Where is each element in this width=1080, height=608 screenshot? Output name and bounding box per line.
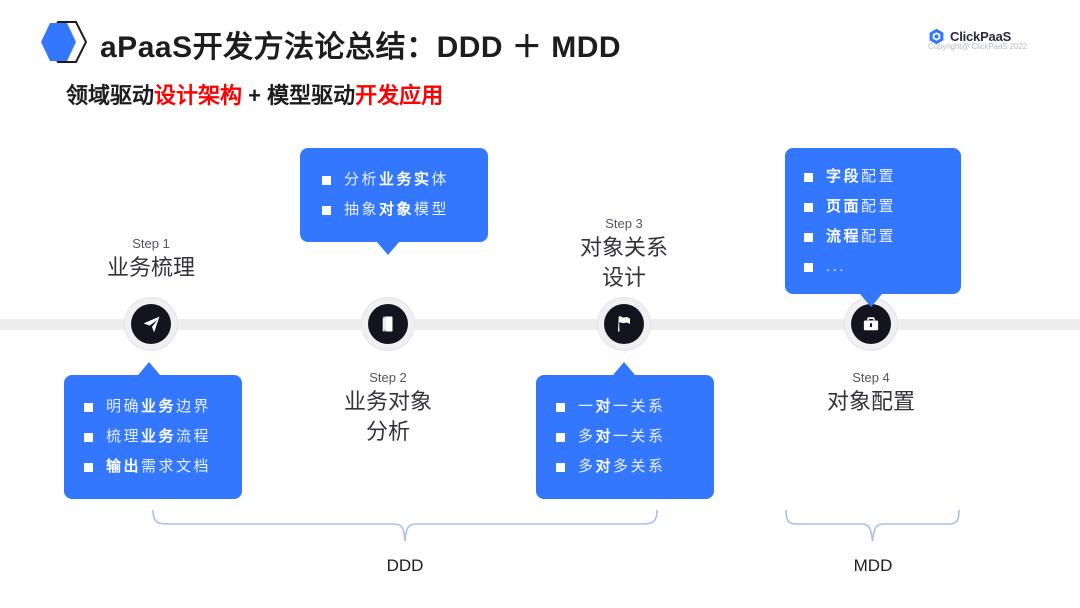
- brand-logo: ClickPaaS Copyright@ ClickPaaS 2022: [928, 28, 1048, 51]
- step-1-callout: 明确业务边界 梳理业务流程 输出需求文档: [64, 375, 242, 499]
- callout-text-suffix: ...: [826, 258, 846, 275]
- callout-text-bold: 对: [596, 428, 614, 445]
- step-4-label: Step 4 对象配置: [771, 368, 971, 417]
- callout-text-bold: 字段: [826, 168, 861, 185]
- callout-text-bold: 输出: [106, 458, 141, 475]
- bullet-square-icon: [322, 206, 331, 215]
- callout-text-prefix: 多: [578, 428, 596, 445]
- callout-text-suffix: 需求文档: [141, 458, 211, 475]
- step-3-callout: 一对一关系 多对一关系 多对多关系: [536, 375, 714, 499]
- list-item: 抽象对象模型: [300, 195, 488, 225]
- timeline-node-step-2[interactable]: [362, 298, 414, 350]
- subtitle-part-4-highlight: 开发应用: [355, 83, 443, 108]
- callout-text-bold: 对象: [379, 201, 414, 218]
- callout-text-bold: 对: [596, 458, 614, 475]
- step-3-name: 对象关系 设计: [524, 233, 724, 293]
- ddd-brace-group: DDD: [150, 508, 660, 553]
- step-2-number: Step 2: [288, 368, 488, 387]
- bullet-square-icon: [804, 173, 813, 182]
- flag-icon: [604, 304, 644, 344]
- callout-text-prefix: 明确: [106, 398, 141, 415]
- step-3-label: Step 3 对象关系 设计: [524, 214, 724, 293]
- briefcase-icon: [851, 304, 891, 344]
- paper-plane-icon: [131, 304, 171, 344]
- step-2-callout: 分析业务实体 抽象对象模型: [300, 148, 488, 242]
- list-item: 字段配置: [785, 162, 961, 192]
- callout-text-suffix: 体: [432, 171, 450, 188]
- subtitle-part-3: + 模型驱动: [242, 83, 355, 108]
- callout-text-suffix: 配置: [861, 198, 896, 215]
- hexagon-logo-icon: [36, 20, 90, 64]
- step-3-callout-tail: [613, 362, 635, 375]
- step-1-number: Step 1: [51, 234, 251, 253]
- list-item: 分析业务实体: [300, 165, 488, 195]
- bullet-square-icon: [804, 203, 813, 212]
- timeline-node-step-1[interactable]: [125, 298, 177, 350]
- mdd-brace-icon: [783, 508, 963, 548]
- callout-text-prefix: 抽象: [344, 201, 379, 218]
- callout-text-suffix: 配置: [861, 168, 896, 185]
- bullet-square-icon: [804, 233, 813, 242]
- list-item: ...: [785, 252, 961, 282]
- callout-text-prefix: 梳理: [106, 428, 141, 445]
- list-item: 明确业务边界: [64, 392, 242, 422]
- callout-text-suffix: 配置: [861, 228, 896, 245]
- callout-text-bold: 业务: [141, 428, 176, 445]
- step-1-name: 业务梳理: [51, 253, 251, 283]
- ddd-brace-icon: [150, 508, 660, 548]
- list-item: 多对多关系: [536, 452, 714, 482]
- callout-text-bold: 业务实: [379, 171, 432, 188]
- bullet-square-icon: [322, 176, 331, 185]
- list-item: 多对一关系: [536, 422, 714, 452]
- step-3-number: Step 3: [524, 214, 724, 233]
- subtitle-part-1: 领域驱动: [66, 83, 154, 108]
- callout-text-suffix: 一关系: [613, 428, 666, 445]
- bullet-square-icon: [84, 433, 93, 442]
- page-title: aPaaS开发方法论总结：DDD ＋ MDD: [100, 22, 621, 66]
- callout-text-suffix: 多关系: [613, 458, 666, 475]
- callout-text-suffix: 边界: [176, 398, 211, 415]
- callout-text-suffix: 模型: [414, 201, 449, 218]
- callout-text-bold: 流程: [826, 228, 861, 245]
- list-item: 页面配置: [785, 192, 961, 222]
- list-item: 一对一关系: [536, 392, 714, 422]
- list-item: 输出需求文档: [64, 452, 242, 482]
- ddd-label: DDD: [305, 556, 505, 576]
- step-1-label: Step 1 业务梳理: [51, 234, 251, 283]
- callout-text-suffix: 一关系: [613, 398, 666, 415]
- bullet-square-icon: [804, 263, 813, 272]
- page-subtitle: 领域驱动设计架构 + 模型驱动开发应用: [66, 78, 443, 110]
- step-4-callout-tail: [860, 294, 882, 307]
- step-4-number: Step 4: [771, 368, 971, 387]
- callout-text-suffix: 流程: [176, 428, 211, 445]
- timeline-node-step-3[interactable]: [598, 298, 650, 350]
- callout-text-bold: 业务: [141, 398, 176, 415]
- callout-text-bold: 对: [596, 398, 614, 415]
- mdd-brace-group: MDD: [783, 508, 963, 553]
- callout-text-prefix: 多: [578, 458, 596, 475]
- bullet-square-icon: [84, 463, 93, 472]
- step-2-label: Step 2 业务对象 分析: [288, 368, 488, 447]
- list-item: 流程配置: [785, 222, 961, 252]
- step-2-name: 业务对象 分析: [288, 387, 488, 447]
- list-item: 梳理业务流程: [64, 422, 242, 452]
- bullet-square-icon: [556, 433, 565, 442]
- step-1-callout-tail: [138, 362, 160, 375]
- brand-copyright: Copyright@ ClickPaaS 2022: [928, 42, 1048, 51]
- callout-text-bold: 页面: [826, 198, 861, 215]
- callout-text-prefix: 分析: [344, 171, 379, 188]
- step-4-name: 对象配置: [771, 387, 971, 417]
- book-icon: [368, 304, 408, 344]
- page-header: aPaaS开发方法论总结：DDD ＋ MDD 领域驱动设计架构 + 模型驱动开发…: [0, 0, 1080, 125]
- mdd-label: MDD: [773, 556, 973, 576]
- subtitle-part-2-highlight: 设计架构: [154, 83, 242, 108]
- bullet-square-icon: [556, 403, 565, 412]
- callout-text-prefix: 一: [578, 398, 596, 415]
- bullet-square-icon: [84, 403, 93, 412]
- step-4-callout: 字段配置 页面配置 流程配置 ...: [785, 148, 961, 294]
- step-2-callout-tail: [377, 242, 399, 255]
- bullet-square-icon: [556, 463, 565, 472]
